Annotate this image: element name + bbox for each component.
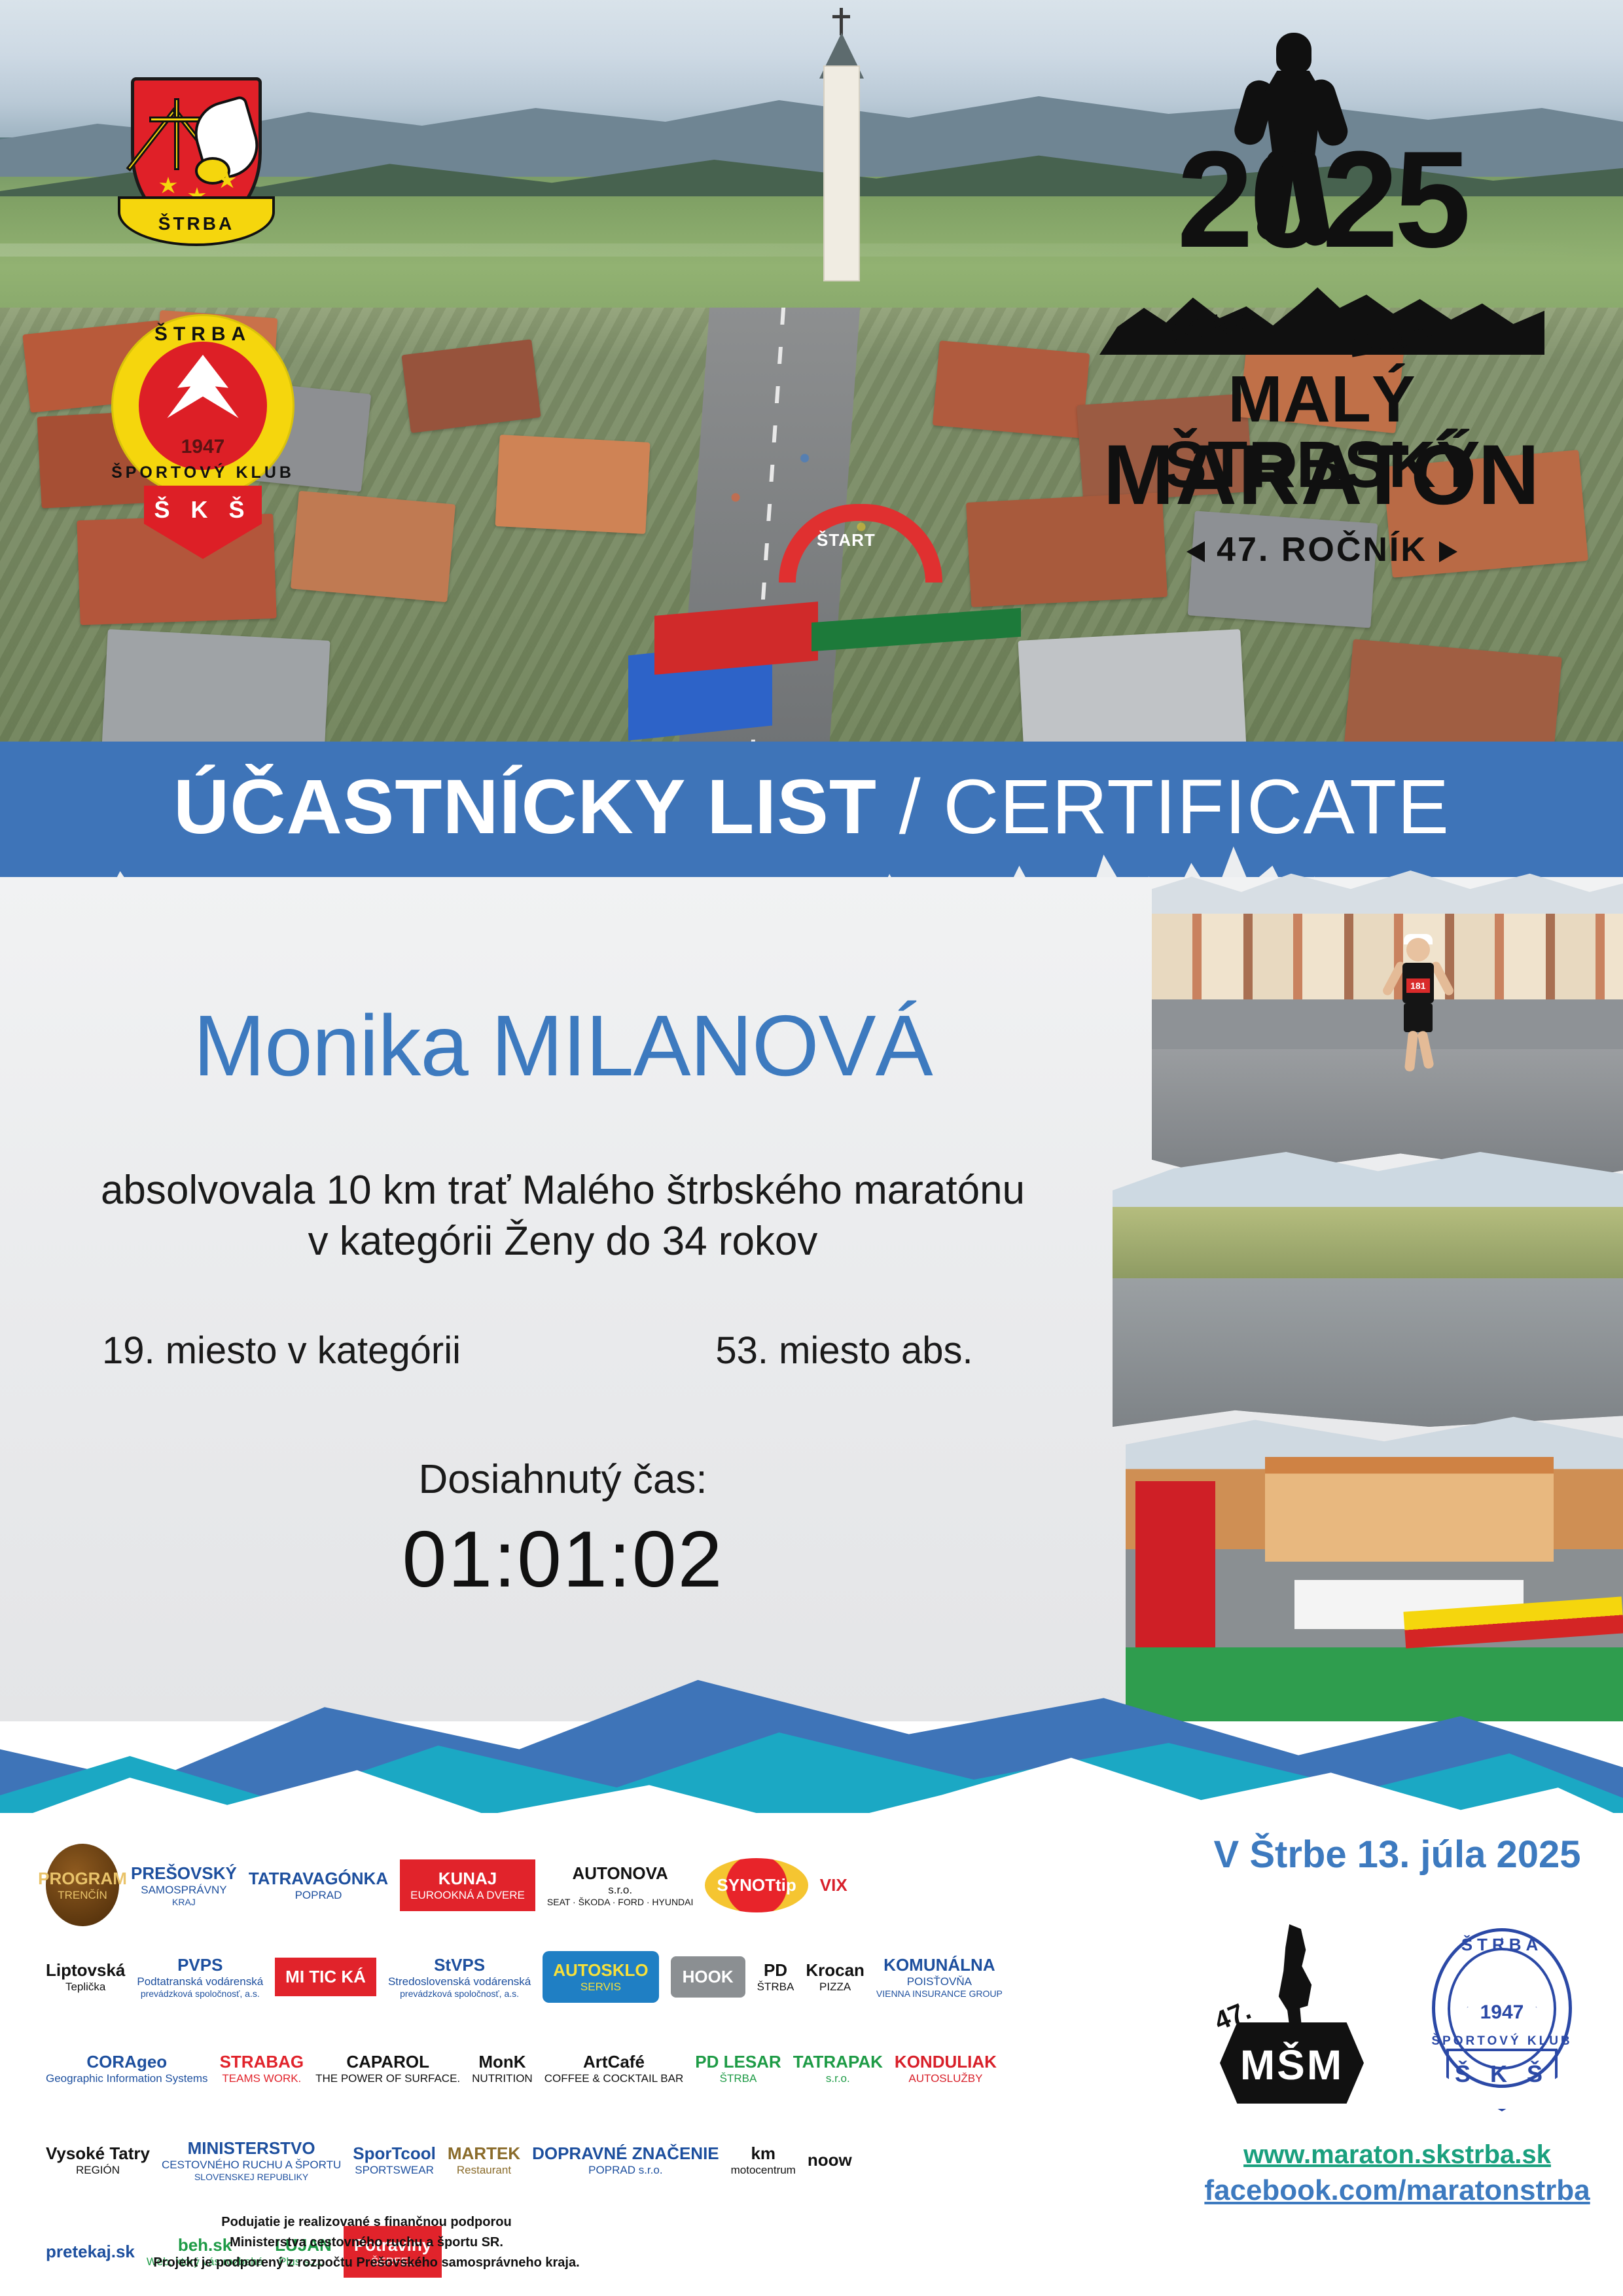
category-placement: 19. miesto v kategórii (0, 1329, 563, 1372)
sponsor-mark: KONDULIAKAUTOSLUŽBY (895, 2052, 997, 2085)
sports-club-logo: ŠTRBA 1947 ŠPORTOVÝ KLUB Š K Š (105, 308, 301, 563)
sponsor-logo-noow: noow (808, 2119, 852, 2201)
sponsor-logo-miticka: MI TIC KÁ (275, 1935, 376, 2018)
sponsor-mark: SporTcoolSPORTSWEAR (353, 2144, 436, 2177)
sponsor-logo-strabag: STRABAGTEAMS WORK. (220, 2027, 304, 2109)
sponsor-text-line-2: Teplička (65, 1981, 105, 1994)
sponsor-text-line-1: StVPS (434, 1955, 485, 1975)
start-arch-label: ŠTART (817, 530, 876, 550)
sponsor-mark: PROGRAMTRENČÍN (46, 1844, 119, 1926)
sponsor-mark: noow (808, 2150, 852, 2170)
sponsor-text-line-1: Krocan (806, 1960, 865, 1981)
sponsor-text-line-1: AUTONOVA (572, 1863, 668, 1884)
sponsor-text-line-2: SAMOSPRÁVNY (141, 1884, 226, 1897)
sponsor-logo-vix: VIX (820, 1844, 847, 1926)
sponsor-text-line-1: SYNOTtip (717, 1875, 796, 1895)
sponsor-logo-monk-nutrition: MonKNUTRITION (472, 2027, 533, 2109)
sponsor-text-line-1: MARTEK (448, 2144, 520, 2164)
sponsor-logo-km-motocentrum: kmmotocentrum (731, 2119, 796, 2201)
club-shield: Š K Š (144, 486, 262, 559)
church (805, 39, 877, 314)
sks-mid-text: ŠPORTOVÝ KLUB (1407, 2034, 1597, 2049)
sponsor-logo-tatravagonka-poprad: TATRAVAGÓNKAPOPRAD (249, 1844, 388, 1926)
sponsor-text-line-2: REGIÓN (76, 2164, 120, 2177)
sponsor-text-line-3: SEAT · ŠKODA · FORD · HYUNDAI (547, 1897, 694, 1907)
sponsor-mark: PD LESARŠTRBA (695, 2052, 781, 2085)
footer-right-column: V Štrbe 13. júla 2025 47. MŠM ŠTRBA 1947… (1171, 1813, 1623, 2296)
sponsor-logo-pd-lesar-strba: PD LESARŠTRBA (695, 2027, 781, 2109)
sponsor-text-line-2: PIZZA (819, 1981, 851, 1994)
sponsor-text-line-2: Restaurant (457, 2164, 511, 2177)
support-note-line-2: Ministerstva cestovného ruchu a športu S… (72, 2233, 661, 2253)
sponsor-text-line-1: KONDULIAK (895, 2052, 997, 2072)
sponsor-logo-synottip: SYNOTtip (705, 1844, 808, 1926)
facebook-link[interactable]: facebook.com/maratonstrba (1171, 2174, 1623, 2207)
sponsor-mark: KUNAJEUROOKNÁ A DVERE (400, 1859, 535, 1911)
finish-building (1265, 1457, 1554, 1562)
sponsor-text-line-2: Stredoslovenská vodárenská (388, 1975, 531, 1988)
sponsor-mark: MINISTERSTVOCESTOVNÉHO RUCHU A ŠPORTUSLO… (162, 2138, 341, 2182)
sponsor-logo-stvps: StVPSStredoslovenská vodárenskáprevádzko… (388, 1935, 531, 2018)
sponsor-logo-caparol: CAPAROLTHE POWER OF SURFACE. (315, 2027, 460, 2109)
sponsor-logo-tatrapak: TATRAPAKs.r.o. (793, 2027, 883, 2109)
msm-emblem: 47. MŠM (1208, 1924, 1372, 2108)
sponsor-mark: CAPAROLTHE POWER OF SURFACE. (315, 2052, 460, 2085)
crest-ribbon-label: ŠTRBA (120, 213, 272, 234)
sponsor-text-line-3: KRAJ (172, 1897, 196, 1907)
sponsor-text-line-1: MINISTERSTVO (188, 2138, 315, 2159)
sponsor-mark: PREŠOVSKÝSAMOSPRÁVNYKRAJ (131, 1863, 237, 1907)
sponsor-text-line-1: STRABAG (220, 2052, 304, 2072)
sponsor-text-line-2: NUTRITION (472, 2072, 533, 2085)
sponsor-mark: PVPSPodtatranská vodárenskáprevádzková s… (137, 1955, 263, 1999)
sponsor-mark: AUTONOVAs.r.o.SEAT · ŠKODA · FORD · HYUN… (547, 1863, 694, 1907)
sponsor-logo-krocan-pizza: KrocanPIZZA (806, 1935, 865, 2018)
sponsor-text-line-2: ŠTRBA (757, 1981, 794, 1994)
sponsor-text-line-1: Vysoké Tatry (46, 2144, 150, 2164)
sponsor-mark: TATRAPAKs.r.o. (793, 2052, 883, 2085)
sponsor-text-line-2: motocentrum (731, 2164, 796, 2177)
sponsor-text-line-2: EUROOKNÁ A DVERE (410, 1889, 525, 1902)
hillside-grass (1113, 1207, 1623, 1278)
sponsor-logo-dopravne-znacenie-poprad: DOPRAVNÉ ZNAČENIEPOPRAD s.r.o. (532, 2119, 719, 2201)
sponsor-text-line-1: km (751, 2144, 776, 2164)
sponsor-text-line-1: CORAgeo (86, 2052, 167, 2072)
sponsor-text-line-1: TATRAPAK (793, 2052, 883, 2072)
photo-runners-on-hill (1113, 1152, 1623, 1427)
sponsor-mark: KrocanPIZZA (806, 1960, 865, 1994)
sponsor-mark: STRABAGTEAMS WORK. (220, 2052, 304, 2085)
sponsor-logo-polnohospodarske-druzstvo-strba: PDŠTRBA (757, 1935, 794, 2018)
sponsor-logo-autonova: AUTONOVAs.r.o.SEAT · ŠKODA · FORD · HYUN… (547, 1844, 694, 1926)
church-cross-icon (840, 8, 843, 35)
sponsor-text-line-3: prevádzková spoločnosť, a.s. (400, 1988, 519, 1999)
event-edition: 47. ROČNÍK (1080, 530, 1564, 569)
sponsor-text-line-2: TRENČÍN (58, 1889, 107, 1902)
sponsor-logo-sportcool: SporTcoolSPORTSWEAR (353, 2119, 436, 2201)
sponsor-mark: AUTOSKLOSERVIS (543, 1951, 658, 2003)
sponsor-text-line-2: TEAMS WORK. (222, 2072, 301, 2085)
sponsor-logo-corageo: CORAgeoGeographic Information Systems (46, 2027, 208, 2109)
sponsor-row: PROGRAMTRENČÍNPREŠOVSKÝSAMOSPRÁVNYKRAJTA… (46, 1839, 1158, 1931)
sponsor-text-line-1: MI TIC KÁ (285, 1967, 366, 1987)
certificate-description: absolvovala 10 km trať Malého štrbského … (0, 1165, 1126, 1267)
sponsor-logo-martek-restaurant: MARTEKRestaurant (448, 2119, 520, 2201)
sks-shield-text: Š K Š (1449, 2060, 1555, 2088)
placement-row: 19. miesto v kategórii 53. miesto abs. (0, 1329, 1126, 1372)
sponsor-mark: CORAgeoGeographic Information Systems (46, 2052, 208, 2085)
arrow-left-icon (1186, 541, 1205, 562)
sponsor-text-line-1: MonK (478, 2052, 526, 2072)
sponsor-mark: MI TIC KÁ (275, 1958, 376, 1996)
sks-year: 1947 (1407, 2001, 1597, 2024)
sponsor-text-line-2: Geographic Information Systems (46, 2072, 208, 2085)
sponsor-text-line-2: CESTOVNÉHO RUCHU A ŠPORTU (162, 2159, 341, 2172)
sponsor-text-line-2: POPRAD s.r.o. (588, 2164, 662, 2177)
description-line-2: v kategórii Ženy do 34 rokov (0, 1216, 1126, 1267)
sponsor-mark: TATRAVAGÓNKAPOPRAD (249, 1869, 388, 1902)
support-note: Podujatie je realizované s finančnou pod… (72, 2212, 661, 2273)
club-shield-text: Š K Š (144, 496, 262, 524)
sks-top-text: ŠTRBA (1407, 1935, 1597, 1955)
title-separator: / (877, 764, 943, 850)
support-note-line-1: Podujatie je realizované s finančnou pod… (72, 2212, 661, 2233)
sponsor-mark: DOPRAVNÉ ZNAČENIEPOPRAD s.r.o. (532, 2144, 719, 2177)
club-top-text: ŠTRBA (105, 323, 301, 346)
hill-road (1113, 1278, 1623, 1427)
sponsor-logo-komunalna-poistovna: KOMUNÁLNAPOISŤOVŇAVIENNA INSURANCE GROUP (876, 1935, 1003, 2018)
arrow-right-icon (1439, 541, 1457, 562)
crest-ribbon: ŠTRBA (118, 196, 275, 246)
sponsor-text-line-1: PVPS (177, 1955, 223, 1975)
sponsor-logo-ministerstvo-cestovneho-ruchu: MINISTERSTVOCESTOVNÉHO RUCHU A ŠPORTUSLO… (162, 2119, 341, 2201)
website-link[interactable]: www.maraton.skstrba.sk (1171, 2140, 1623, 2170)
sponsor-text-line-1: CAPAROL (346, 2052, 429, 2072)
sponsor-text-line-2: SPORTSWEAR (355, 2164, 434, 2177)
page-title: ÚČASTNÍCKY LIST / CERTIFICATE (0, 762, 1623, 852)
sponsor-mark: ArtCaféCOFFEE & COCKTAIL BAR (544, 2052, 684, 2085)
sponsor-text-line-1: VIX (820, 1875, 847, 1895)
sponsor-logo-pvps: PVPSPodtatranská vodárenskáprevádzková s… (137, 1935, 263, 2018)
sponsor-logo-kunaj: KUNAJEUROOKNÁ A DVERE (400, 1844, 535, 1926)
support-note-line-3: Projekt je podporený z rozpočtu Prešovsk… (72, 2253, 661, 2273)
msm-diamond: MŠM (1220, 2022, 1364, 2104)
club-bottom-text: ŠPORTOVÝ KLUB (105, 463, 301, 482)
photo-winner-at-finish (1126, 1414, 1623, 1721)
club-year: 1947 (105, 436, 301, 458)
sponsor-text-line-1: ArtCafé (583, 2052, 645, 2072)
sponsor-text-line-1: noow (808, 2150, 852, 2170)
event-logo: 2025 31 km 10 km MALÝ ŠTRBSKÝ MARATÓN 47… (1080, 26, 1564, 589)
sponsor-text-line-2: s.r.o. (608, 1884, 632, 1897)
sponsor-text-line-1: KOMUNÁLNA (883, 1955, 995, 1975)
celebrating-runner: 181 (1391, 938, 1446, 1082)
sponsor-mark: LiptovskáTeplička (46, 1960, 125, 1994)
sponsor-text-line-1: AUTOSKLO (553, 1960, 648, 1981)
sponsor-mark: StVPSStredoslovenská vodárenskáprevádzko… (388, 1955, 531, 1999)
sponsor-text-line-1: PROGRAM (38, 1869, 127, 1889)
participant-name: Monika MILANOVÁ (0, 996, 1126, 1095)
absolute-placement: 53. miesto abs. (563, 1329, 1126, 1372)
sponsor-text-line-1: KUNAJ (438, 1869, 497, 1889)
sponsor-text-line-2: s.r.o. (826, 2072, 850, 2085)
sponsor-logo-vysoke-tatry-region: Vysoké TatryREGIÓN (46, 2119, 150, 2201)
event-title-line2: MARATÓN (1080, 432, 1564, 517)
certificate-page: ŠTART ŠTRBA ŠTRBA 1947 ŠPORTOVÝ KLUB Š K… (0, 0, 1623, 2296)
sponsor-mark: SYNOTtip (705, 1858, 808, 1912)
msm-abbrev: MŠM (1220, 2041, 1364, 2089)
sponsor-text-line-3: VIENNA INSURANCE GROUP (876, 1988, 1003, 1999)
sponsor-text-line-1: DOPRAVNÉ ZNAČENIE (532, 2144, 719, 2164)
title-english: CERTIFICATE (943, 764, 1450, 850)
strba-coat-of-arms: ŠTRBA (118, 72, 275, 268)
sponsor-logo-liptovska-teplicka: LiptovskáTeplička (46, 1935, 125, 2018)
sponsor-text-line-1: HOOK (683, 1967, 734, 1987)
photo-collage: 181 (1113, 870, 1623, 1721)
sponsor-logo-konduliak-autosluzby: KONDULIAKAUTOSLUŽBY (895, 2027, 997, 2109)
sponsor-text-line-1: PREŠOVSKÝ (131, 1863, 237, 1884)
sponsor-text-line-1: PD LESAR (695, 2052, 781, 2072)
photo-finisher-celebrating: 181 (1152, 870, 1623, 1178)
sponsor-text-line-2: POPRAD (295, 1889, 342, 1902)
sponsor-text-line-3: SLOVENSKEJ REPUBLIKY (194, 2172, 308, 2182)
sponsor-mark: PDŠTRBA (757, 1960, 794, 1994)
sponsor-text-line-1: Liptovská (46, 1960, 125, 1981)
sponsor-logo-autosklo-servis: AUTOSKLOSERVIS (543, 1935, 658, 2018)
sponsor-logo-presovsky-kraj: PREŠOVSKÝSAMOSPRÁVNYKRAJ (131, 1844, 237, 1926)
sponsor-text-line-1: PD (764, 1960, 787, 1981)
crest-center-staff (174, 98, 179, 170)
church-tower (823, 65, 860, 281)
sponsor-row: CORAgeoGeographic Information SystemsSTR… (46, 2022, 1158, 2114)
sponsor-mark: Vysoké TatryREGIÓN (46, 2144, 150, 2177)
race-road (1152, 1049, 1623, 1178)
event-edition-label: 47. ROČNÍK (1217, 531, 1427, 569)
sponsor-text-line-2: Podtatranská vodárenská (137, 1975, 263, 1988)
sponsor-text-line-2: AUTOSLUŽBY (908, 2072, 982, 2085)
sponsor-mark: MARTEKRestaurant (448, 2144, 520, 2177)
sponsor-row: LiptovskáTepličkaPVPSPodtatranská vodáre… (46, 1931, 1158, 2022)
finish-time-value: 01:01:02 (0, 1513, 1126, 1605)
sponsor-text-line-2: POISŤOVŇA (907, 1975, 972, 1988)
sponsor-text-line-1: TATRAVAGÓNKA (249, 1869, 388, 1889)
sponsor-text-line-2: THE POWER OF SURFACE. (315, 2072, 460, 2085)
sponsor-mark: MonKNUTRITION (472, 2052, 533, 2085)
spectator-crowd (641, 419, 955, 615)
event-year: 2025 (1080, 131, 1564, 268)
sponsor-text-line-2: ŠTRBA (720, 2072, 757, 2085)
sponsor-text-line-3: prevádzková spoločnosť, a.s. (141, 1988, 260, 1999)
sponsor-logo-program-trencin: PROGRAMTRENČÍN (46, 1844, 119, 1926)
sponsor-text-line-1: SporTcool (353, 2144, 436, 2164)
runner-bib-number: 181 (1406, 978, 1430, 993)
finish-carpet (1126, 1647, 1623, 1721)
sks-shield: Š K Š (1446, 2049, 1558, 2111)
sponsor-mark: KOMUNÁLNAPOISŤOVŇAVIENNA INSURANCE GROUP (876, 1955, 1003, 1999)
sponsor-logo-artcafe: ArtCaféCOFFEE & COCKTAIL BAR (544, 2027, 684, 2109)
description-line-1: absolvovala 10 km trať Malého štrbského … (0, 1165, 1126, 1216)
sponsor-text-line-2: SERVIS (580, 1981, 621, 1994)
sponsor-mark: HOOK (671, 1956, 745, 1998)
sponsor-mark: VIX (820, 1875, 847, 1895)
sponsor-row: Vysoké TatryREGIÓNMINISTERSTVOCESTOVNÉHO… (46, 2114, 1158, 2206)
sks-stamp-emblem: ŠTRBA 1947 ŠPORTOVÝ KLUB Š K Š (1407, 1918, 1597, 2114)
issue-date: V Štrbe 13. júla 2025 (1171, 1833, 1623, 1876)
mountain-ridge-icon (1099, 281, 1544, 355)
sponsor-text-line-2: COFFEE & COCKTAIL BAR (544, 2072, 684, 2085)
sponsor-mark: kmmotocentrum (731, 2144, 796, 2177)
finish-time-label: Dosiahnutý čas: (0, 1456, 1126, 1503)
sponsor-logo-hook: HOOK (671, 1935, 745, 2018)
title-slovak: ÚČASTNÍCKY LIST (173, 764, 877, 850)
